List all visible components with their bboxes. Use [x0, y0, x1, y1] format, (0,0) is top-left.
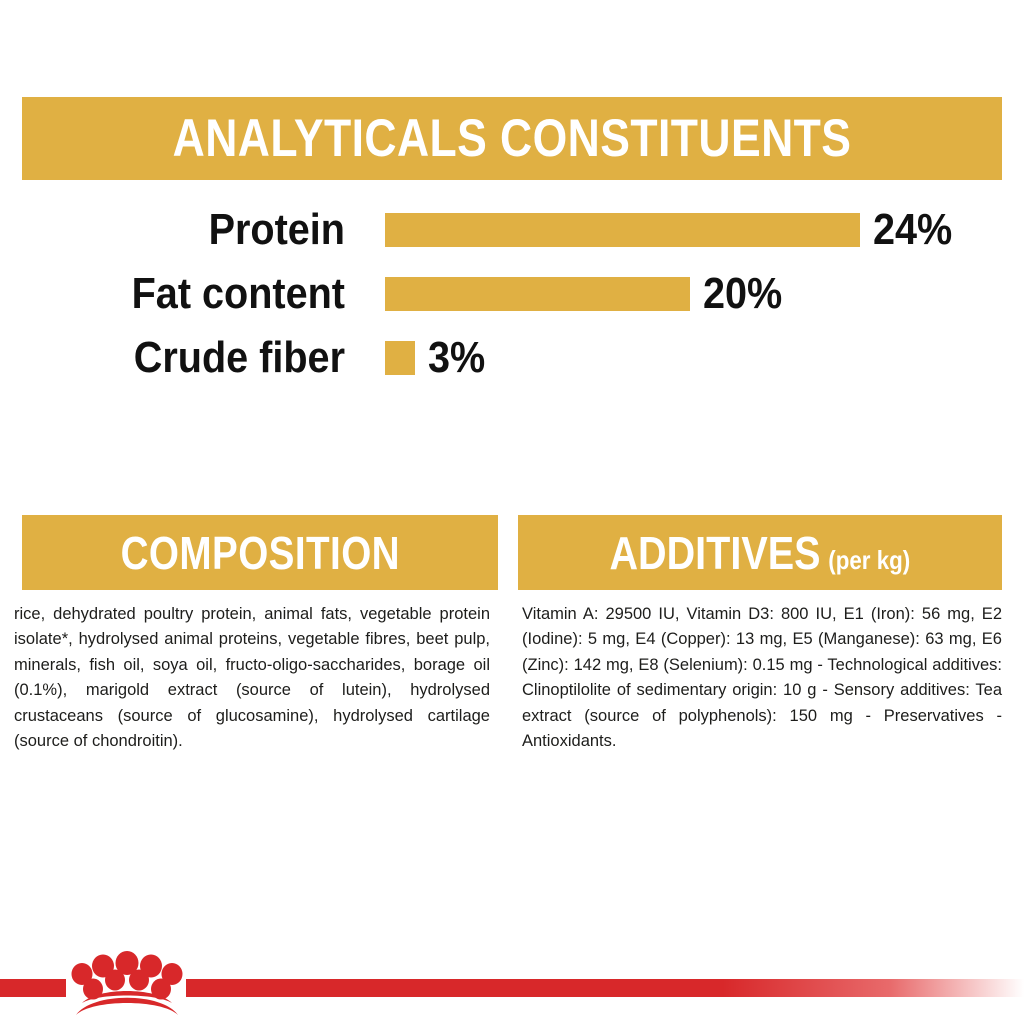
- nutrient-bar-chart: Protein 24% Fat content 20% Crude fiber …: [0, 200, 1024, 400]
- bar-value-fat-content: 20%: [703, 272, 782, 316]
- composition-text: rice, dehydrated poultry protein, animal…: [14, 602, 490, 754]
- additives-title-group: ADDITIVES (per kg): [610, 530, 911, 576]
- additives-text: Vitamin A: 29500 IU, Vitamin D3: 800 IU,…: [522, 602, 1002, 754]
- footer-rule-left: [0, 979, 66, 997]
- analyticals-constituents-title: ANALYTICALS CONSTITUENTS: [173, 112, 852, 165]
- additives-subtitle-per-kg: (per kg): [828, 547, 910, 573]
- chart-row-protein: Protein 24%: [0, 202, 1024, 258]
- analyticals-constituents-banner: ANALYTICALS CONSTITUENTS: [22, 97, 1002, 180]
- chart-row-fat-content: Fat content 20%: [0, 266, 1024, 322]
- nutrition-label-page: ANALYTICALS CONSTITUENTS Protein 24% Fat…: [0, 0, 1024, 1024]
- bar-fill-fat-content: [385, 277, 690, 311]
- bar-track-fat-content: 20%: [385, 272, 791, 316]
- bar-track-crude-fiber: 3%: [385, 336, 492, 380]
- brand-footer: [0, 955, 1024, 1024]
- composition-title: COMPOSITION: [120, 530, 399, 576]
- additives-banner: ADDITIVES (per kg): [518, 515, 1002, 590]
- bar-value-crude-fiber: 3%: [428, 336, 485, 380]
- bar-label-protein: Protein: [35, 208, 346, 252]
- footer-rule-right: [186, 979, 1024, 997]
- bar-track-protein: 24%: [385, 208, 961, 252]
- additives-title: ADDITIVES: [610, 530, 821, 576]
- bar-fill-crude-fiber: [385, 341, 415, 375]
- bar-label-crude-fiber: Crude fiber: [35, 336, 346, 380]
- bar-label-fat-content: Fat content: [35, 272, 346, 316]
- chart-row-crude-fiber: Crude fiber 3%: [0, 330, 1024, 386]
- bar-value-protein: 24%: [873, 208, 952, 252]
- composition-banner: COMPOSITION: [22, 515, 498, 590]
- royal-canin-crown-icon: [66, 947, 188, 1019]
- bar-fill-protein: [385, 213, 860, 247]
